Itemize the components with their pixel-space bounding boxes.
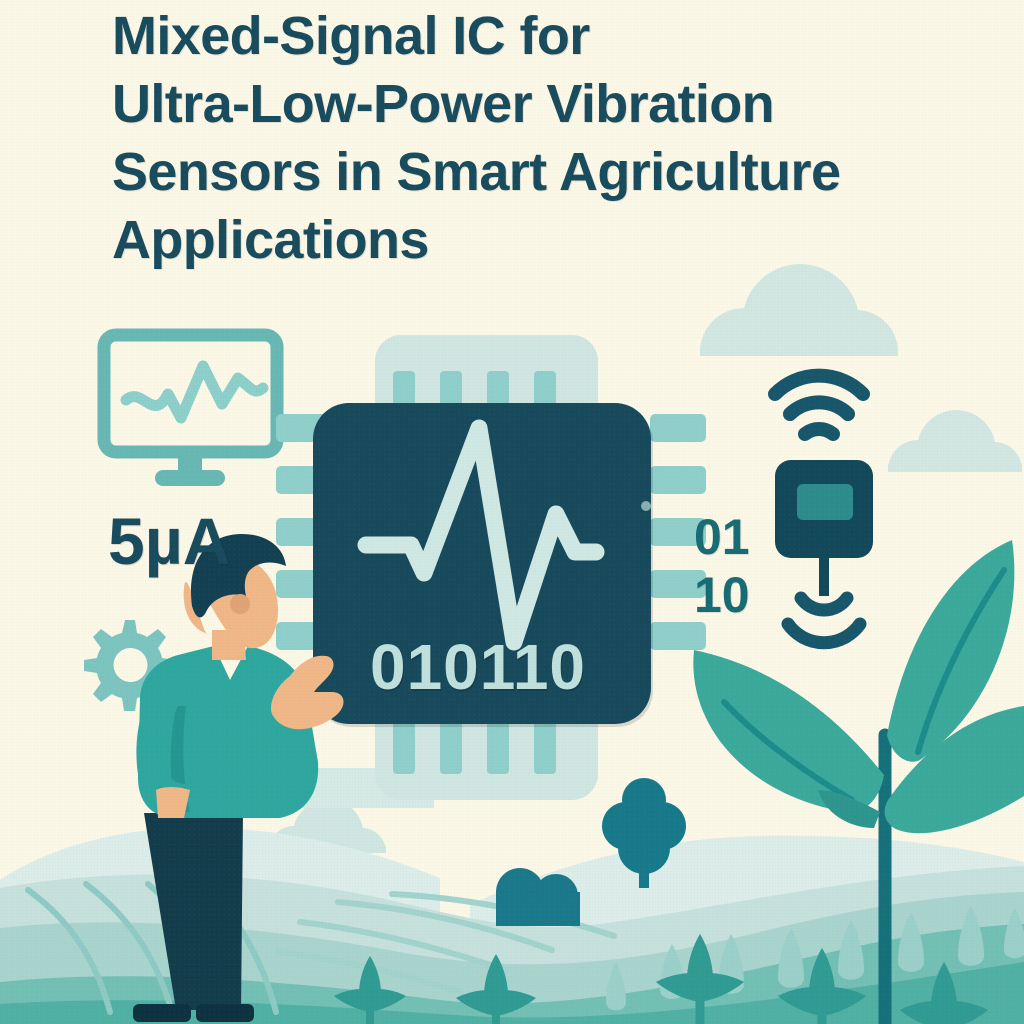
microchip-icon[interactable] xyxy=(313,403,651,724)
shoe-back xyxy=(133,1004,191,1022)
shoe-front xyxy=(196,1004,254,1022)
poster-canvas: Mixed-Signal IC for Ultra-Low-Power Vibr… xyxy=(0,0,1024,1024)
poster-illustration xyxy=(0,0,1024,1024)
hand-in-pocket xyxy=(156,787,190,818)
